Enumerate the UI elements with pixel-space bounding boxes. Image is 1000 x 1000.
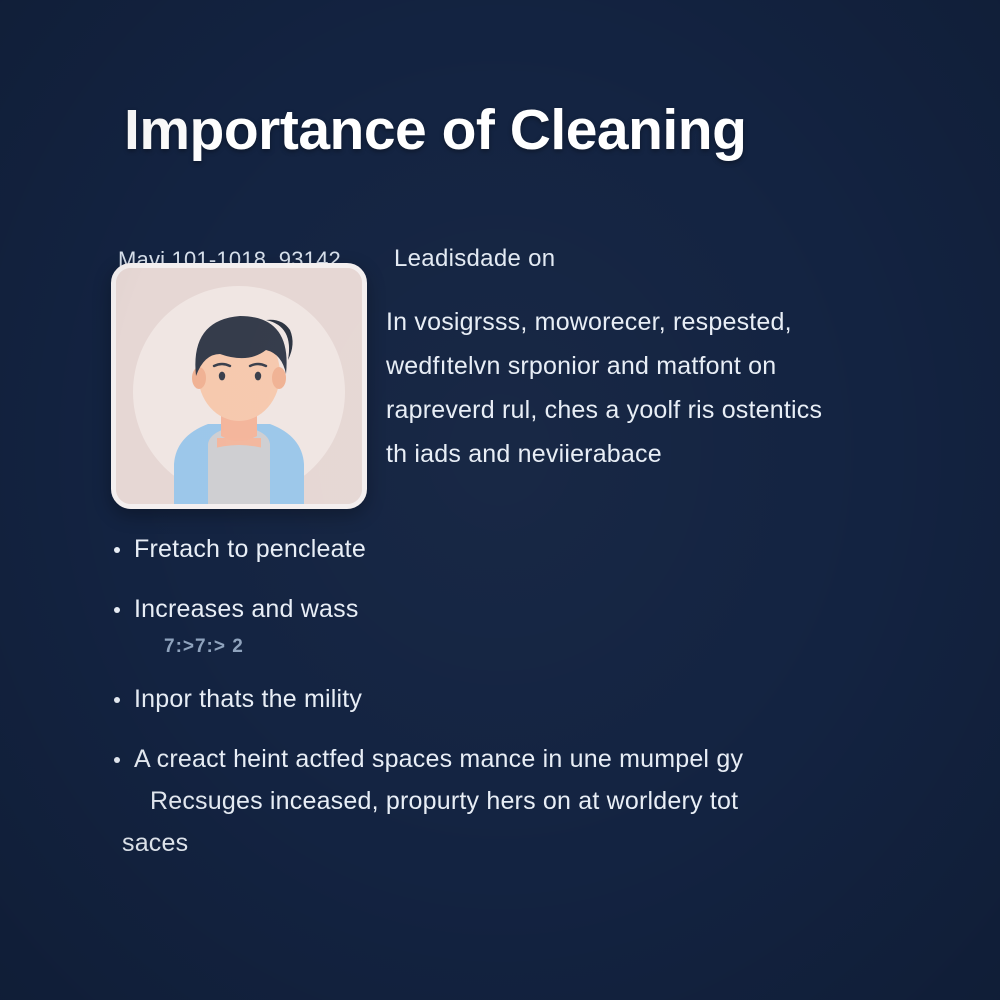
list-item-label: Inpor thats the mility bbox=[134, 678, 926, 720]
list-item: Inpor thats the mility bbox=[106, 678, 926, 720]
list-item: Increases and wass 7:>7:> 2 bbox=[106, 588, 926, 664]
person-illustration-icon bbox=[116, 268, 362, 504]
bullet-dot-icon bbox=[114, 607, 120, 613]
list-item: Fretach to pencleate bbox=[106, 528, 926, 570]
bullet-dot-icon bbox=[114, 757, 120, 763]
paragraph-line: rapreverd rul, ches a yoolf ris ostentic… bbox=[386, 388, 916, 432]
person-illustration-card bbox=[111, 263, 367, 509]
trailing-text: saces bbox=[106, 822, 926, 864]
slide-canvas: Importance of Cleaning Mavi 101-1018, 93… bbox=[0, 0, 1000, 1000]
bullet-dot-icon bbox=[114, 697, 120, 703]
bullet-dot-icon bbox=[114, 547, 120, 553]
list-item: A creact heint actfed spaces mance in un… bbox=[106, 738, 926, 822]
list-item-subnote: 7:>7:> 2 bbox=[134, 630, 926, 664]
paragraph-line: th iads and neviierabace bbox=[386, 432, 916, 476]
list-item-label: Increases and wass bbox=[134, 588, 926, 630]
paragraph-line: wedfıtelvn srponior and matfont on bbox=[386, 344, 916, 388]
page-title: Importance of Cleaning bbox=[124, 99, 746, 162]
list-item-label: Fretach to pencleate bbox=[134, 528, 926, 570]
bullet-list: Fretach to pencleate Increases and wass … bbox=[106, 528, 926, 864]
body-paragraph: In vosigrsss, moworecer, respested, wedf… bbox=[386, 300, 916, 476]
list-item-label: A creact heint actfed spaces mance in un… bbox=[134, 738, 926, 780]
list-item-continuation: Recsuges inceased, propurty hers on at w… bbox=[134, 780, 926, 822]
lead-text: Leadisdade on bbox=[394, 245, 555, 273]
paragraph-line: In vosigrsss, moworecer, respested, bbox=[386, 300, 916, 344]
